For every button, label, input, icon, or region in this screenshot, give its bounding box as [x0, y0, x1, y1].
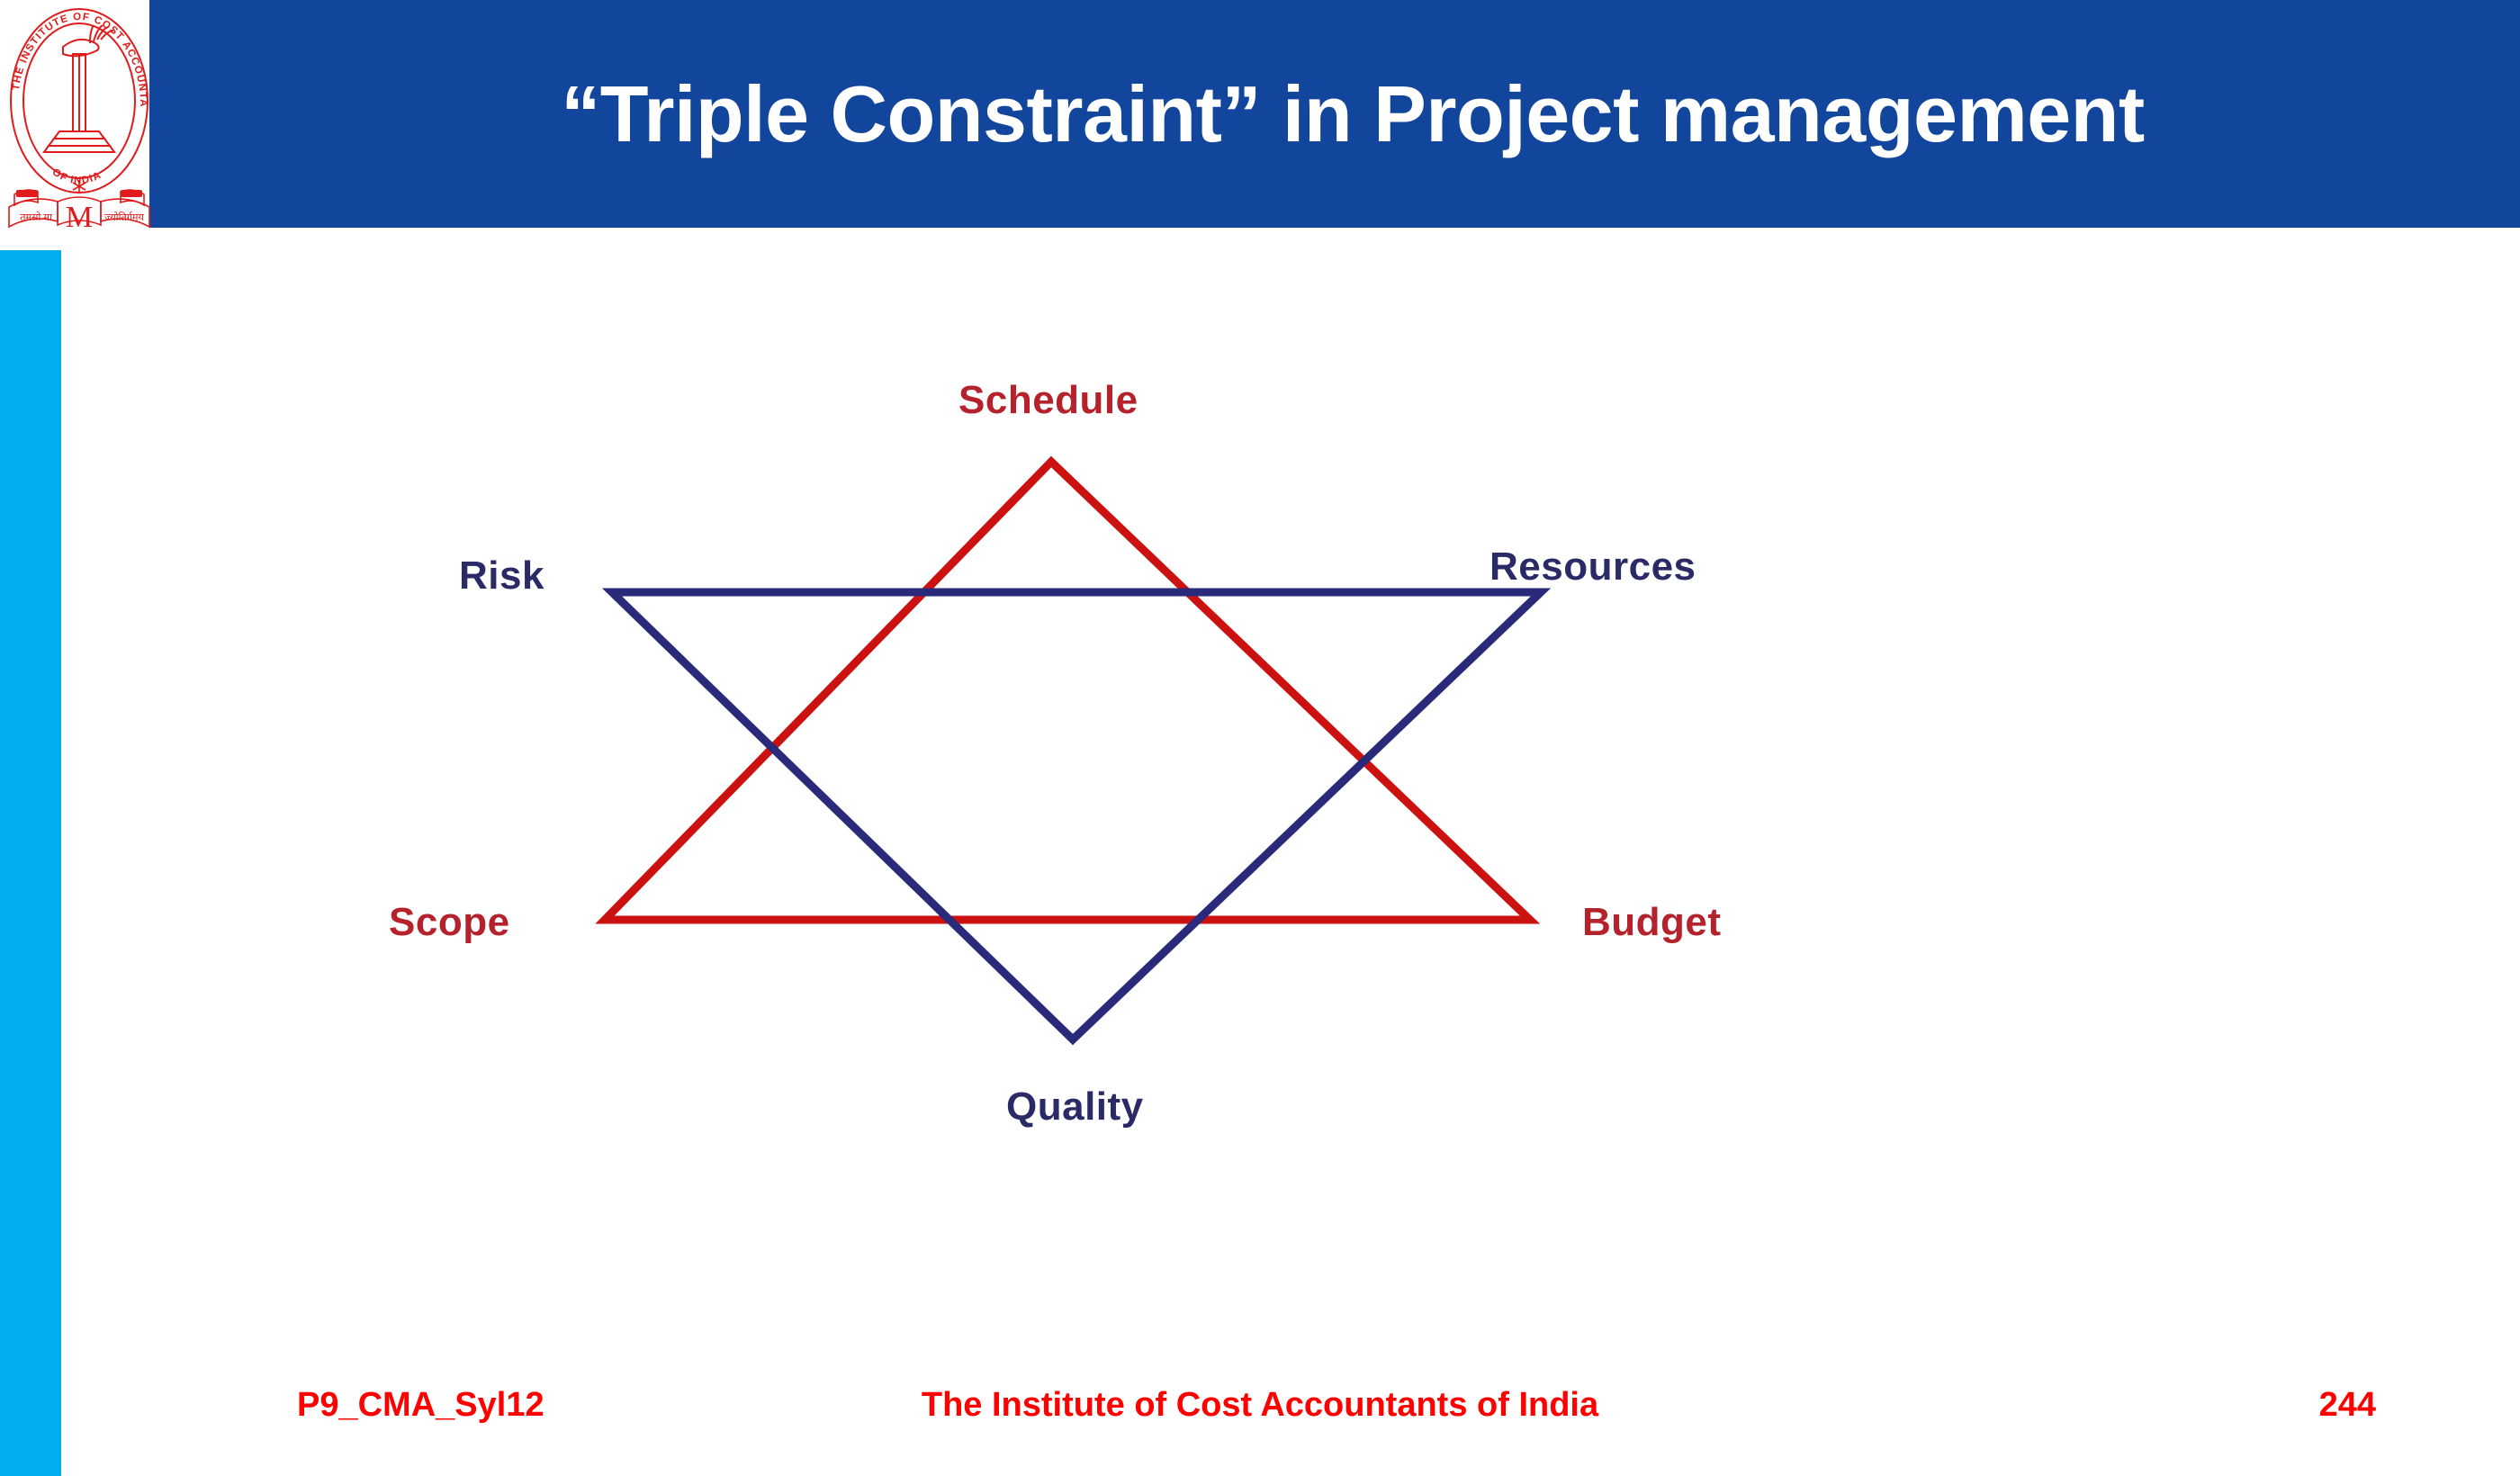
footer-institute-name: The Institute of Cost Accountants of Ind… [0, 1386, 2520, 1425]
slide: “Triple Constraint” in Project managemen… [0, 0, 2520, 1476]
svg-text:ज्योतिर्गमय: ज्योतिर्गमय [104, 211, 144, 223]
svg-text:OF INDIA: OF INDIA [50, 166, 103, 186]
diagram-label-quality: Quality [1006, 1084, 1144, 1129]
downward-triangle-navy [612, 592, 1541, 1039]
left-accent-bar [0, 250, 61, 1476]
svg-text:तमसो मा: तमसो मा [20, 211, 52, 223]
institute-logo: M THE INSTITUTE OF COST ACCOUNTANTS OF I… [7, 4, 151, 245]
diagram-label-risk: Risk [459, 553, 544, 598]
diagram-label-scope: Scope [389, 900, 510, 945]
page-title: “Triple Constraint” in Project managemen… [149, 0, 2520, 228]
diagram-label-budget: Budget [1582, 900, 1722, 945]
diagram-label-resources: Resources [1489, 544, 1696, 589]
upward-triangle-red [605, 462, 1530, 920]
triple-constraint-diagram [360, 342, 1890, 1197]
footer-page-number: 244 [2319, 1386, 2376, 1425]
footer: P9_CMA_Syl12 The Institute of Cost Accou… [0, 1368, 2520, 1449]
diagram-label-schedule: Schedule [958, 378, 1138, 423]
svg-text:M: M [66, 201, 93, 234]
